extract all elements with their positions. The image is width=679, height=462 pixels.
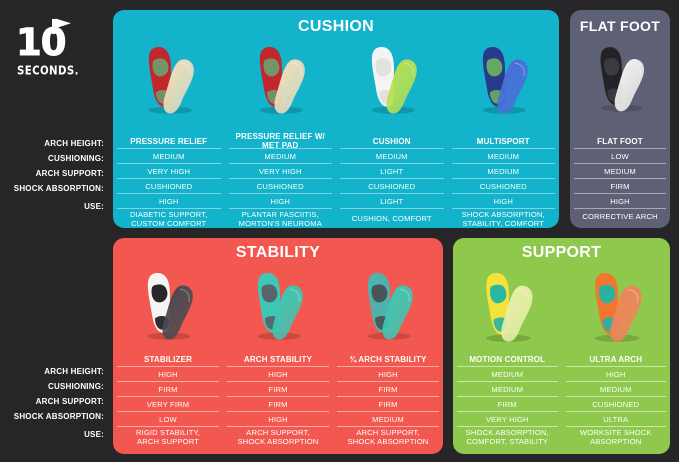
spec-value-shock-absorption: HIGH (113, 194, 225, 208)
spec-row-cushioning: VERY HIGHVERY HIGHLIGHTMEDIUM (113, 164, 559, 178)
product-name-row: FLAT FOOT (570, 134, 670, 148)
spec-value-use: PLANTAR FASCIITIS, MORTON'S NEUROMA (225, 209, 337, 228)
spec-table-stability: STABILIZERARCH STABILITY¾ ARCH STABILITY… (113, 352, 443, 446)
insole-illustration (250, 40, 310, 118)
spec-value-arch-support: CUSHIONED (448, 179, 560, 193)
spec-row-arch-support: CUSHIONEDCUSHIONEDCUSHIONEDCUSHIONED (113, 179, 559, 193)
spec-value-cushioning: VERY HIGH (113, 164, 225, 178)
spec-value-shock-absorption: HIGH (448, 194, 560, 208)
spec-row-arch-height: HIGHHIGHHIGH (113, 367, 443, 381)
spec-value-shock-absorption: MEDIUM (333, 412, 443, 426)
spec-value-use: ARCH SUPPORT, SHOCK ABSORPTION (333, 427, 443, 446)
row-label-4-top: USE: (0, 196, 110, 216)
insole-illustration (138, 266, 198, 344)
spec-row-arch-height: LOW (570, 149, 670, 163)
spec-value-cushioning: MEDIUM (448, 164, 560, 178)
spec-table-cushion: PRESSURE RELIEFPRESSURE RELIEF W/ MET PA… (113, 134, 559, 228)
spec-value-arch-support: FIRM (333, 397, 443, 411)
logo-wordmark: SECONDS. (17, 63, 79, 78)
spec-value-arch-height: HIGH (113, 367, 223, 381)
row-label-0-bottom: ARCH HEIGHT: (0, 364, 110, 379)
panel-title-stability: STABILITY (113, 244, 443, 262)
row-label-3-bottom: SHOCK ABSORPTION: (0, 409, 110, 424)
row-label-2-top: ARCH SUPPORT: (0, 166, 110, 181)
spec-value-use: RIGID STABILITY, ARCH SUPPORT (113, 427, 223, 446)
spec-row-cushioning: MEDIUM (570, 164, 670, 178)
spec-value-cushioning: MEDIUM (453, 382, 562, 396)
spec-value-cushioning: VERY HIGH (225, 164, 337, 178)
spec-row-shock-absorption: HIGHHIGHLIGHTHIGH (113, 194, 559, 208)
spec-value-shock-absorption: VERY HIGH (453, 412, 562, 426)
spec-row-arch-support: VERY FIRMFIRMFIRM (113, 397, 443, 411)
spec-row-shock-absorption: LOWHIGHMEDIUM (113, 412, 443, 426)
spec-row-shock-absorption: VERY HIGHULTRA (453, 412, 670, 426)
product-name: STABILIZER (113, 352, 223, 366)
spec-value-arch-height: MEDIUM (453, 367, 562, 381)
spec-value-arch-height: HIGH (223, 367, 333, 381)
panel-title-cushion: CUSHION (113, 18, 559, 36)
product-image-stability-1 (248, 266, 308, 344)
spec-table-support: MOTION CONTROLULTRA ARCHMEDIUMHIGHMEDIUM… (453, 352, 670, 446)
spec-table-flat-foot: FLAT FOOTLOWMEDIUMFIRMHIGHCORRECTIVE ARC… (570, 134, 670, 223)
spec-row-use: RIGID STABILITY, ARCH SUPPORTARCH SUPPOR… (113, 427, 443, 446)
spec-value-use: ARCH SUPPORT, SHOCK ABSORPTION (223, 427, 333, 446)
spec-value-arch-height: HIGH (333, 367, 443, 381)
spec-row-arch-height: MEDIUMMEDIUMMEDIUMMEDIUM (113, 149, 559, 163)
spec-value-use: SHOCK ABSORPTION, STABILITY, COMFORT (448, 209, 560, 228)
insole-illustration (473, 40, 533, 118)
product-image-cushion-2 (362, 40, 422, 118)
spec-value-cushioning: MEDIUM (562, 382, 671, 396)
row-label-2-bottom: ARCH SUPPORT: (0, 394, 110, 409)
product-name: MOTION CONTROL (453, 352, 562, 366)
spec-row-arch-height: MEDIUMHIGH (453, 367, 670, 381)
insole-illustration (139, 40, 199, 118)
product-image-cushion-1 (250, 40, 310, 118)
spec-row-arch-support: FIRM (570, 179, 670, 193)
spec-value-arch-height: LOW (570, 149, 670, 163)
insole-illustration (248, 266, 308, 344)
spec-value-arch-height: MEDIUM (113, 149, 225, 163)
spec-value-use: WORKSITE SHOCK ABSORPTION (562, 427, 671, 446)
spec-value-arch-support: FIRM (570, 179, 670, 193)
spec-value-arch-support: CUSHIONED (113, 179, 225, 193)
brand-logo: 10 SECONDS. (14, 18, 98, 80)
insole-illustration (476, 266, 538, 346)
spec-value-use: CORRECTIVE ARCH (570, 209, 670, 223)
product-image-stability-0 (138, 266, 198, 344)
product-name: MULTISPORT (448, 134, 560, 148)
spec-value-use: SHOCK ABSORPTION, COMFORT, STABILITY (453, 427, 562, 446)
panel-title-support: SUPPORT (453, 244, 670, 262)
product-name-row: PRESSURE RELIEFPRESSURE RELIEF W/ MET PA… (113, 134, 559, 148)
spec-row-cushioning: FIRMFIRMFIRM (113, 382, 443, 396)
panel-title-flat-foot: FLAT FOOT (570, 18, 670, 34)
row-labels-top: ARCH HEIGHT:CUSHIONING:ARCH SUPPORT:SHOC… (0, 136, 110, 216)
spec-value-use: DIABETIC SUPPORT, CUSTOM COMFORT (113, 209, 225, 228)
spec-value-arch-support: CUSHIONED (225, 179, 337, 193)
spec-value-cushioning: FIRM (333, 382, 443, 396)
product-name: ARCH STABILITY (223, 352, 333, 366)
row-labels-bottom: ARCH HEIGHT:CUSHIONING:ARCH SUPPORT:SHOC… (0, 364, 110, 444)
spec-row-cushioning: MEDIUMMEDIUM (453, 382, 670, 396)
row-label-4-bottom: USE: (0, 424, 110, 444)
spec-row-arch-support: FIRMCUSHIONED (453, 397, 670, 411)
spec-value-arch-support: CUSHIONED (562, 397, 671, 411)
spec-row-use: CORRECTIVE ARCH (570, 209, 670, 223)
product-images-stability (113, 264, 443, 348)
spec-row-use: DIABETIC SUPPORT, CUSTOM COMFORTPLANTAR … (113, 209, 559, 228)
spec-value-arch-support: CUSHIONED (336, 179, 448, 193)
insole-illustration (358, 266, 418, 344)
spec-value-arch-height: MEDIUM (225, 149, 337, 163)
row-label-3-top: SHOCK ABSORPTION: (0, 181, 110, 196)
product-images-flat-foot (570, 38, 670, 120)
product-name: ULTRA ARCH (562, 352, 671, 366)
product-image-cushion-3 (473, 40, 533, 118)
spec-row-use: SHOCK ABSORPTION, COMFORT, STABILITYWORK… (453, 427, 670, 446)
spec-value-cushioning: FIRM (223, 382, 333, 396)
product-name-row: MOTION CONTROLULTRA ARCH (453, 352, 670, 366)
spec-value-arch-support: FIRM (223, 397, 333, 411)
product-images-support (453, 264, 670, 348)
product-name: PRESSURE RELIEF W/ MET PAD (225, 134, 337, 148)
product-image-cushion-0 (139, 40, 199, 118)
spec-value-shock-absorption: HIGH (570, 194, 670, 208)
spec-value-arch-support: FIRM (453, 397, 562, 411)
spec-value-shock-absorption: HIGH (225, 194, 337, 208)
panel-support: SUPPORT MOTION CONTROLULTRA ARCHMEDIUMHI… (453, 238, 670, 454)
product-image-stability-2 (358, 266, 418, 344)
infographic-root: 10 SECONDS. ARCH HEIGHT:CUSHIONING:ARCH … (0, 0, 679, 462)
product-image-flat-foot-0 (591, 40, 649, 116)
panel-stability: STABILITY STABILIZERARCH STABILITY¾ ARCH… (113, 238, 443, 454)
product-name: ¾ ARCH STABILITY (333, 352, 443, 366)
product-image-support-0 (476, 266, 538, 346)
spec-value-arch-support: VERY FIRM (113, 397, 223, 411)
spec-value-shock-absorption: HIGH (223, 412, 333, 426)
product-name-row: STABILIZERARCH STABILITY¾ ARCH STABILITY (113, 352, 443, 366)
spec-value-cushioning: MEDIUM (570, 164, 670, 178)
row-label-0-top: ARCH HEIGHT: (0, 136, 110, 151)
product-name: PRESSURE RELIEF (113, 134, 225, 148)
product-image-support-1 (585, 266, 647, 346)
insole-illustration (362, 40, 422, 118)
panel-cushion: CUSHION PRESSURE RELIEFPRESSURE RELIEF W… (113, 10, 559, 228)
insole-illustration (585, 266, 647, 346)
spec-value-use: CUSHION, COMFORT (336, 209, 448, 228)
logo-mark: 10 (14, 18, 98, 63)
row-label-1-bottom: CUSHIONING: (0, 379, 110, 394)
product-name: FLAT FOOT (570, 134, 670, 148)
spec-row-shock-absorption: HIGH (570, 194, 670, 208)
product-name: CUSHION (336, 134, 448, 148)
pennant-flag-icon (51, 18, 73, 34)
spec-value-arch-height: HIGH (562, 367, 671, 381)
spec-value-shock-absorption: LIGHT (336, 194, 448, 208)
panel-flat-foot: FLAT FOOT FLAT FOOTLOWMEDIUMFIRMHIGHCORR… (570, 10, 670, 228)
product-images-cushion (113, 38, 559, 122)
spec-value-shock-absorption: ULTRA (562, 412, 671, 426)
insole-illustration (591, 40, 649, 116)
spec-value-shock-absorption: LOW (113, 412, 223, 426)
spec-value-cushioning: FIRM (113, 382, 223, 396)
spec-value-cushioning: LIGHT (336, 164, 448, 178)
spec-value-arch-height: MEDIUM (336, 149, 448, 163)
spec-value-arch-height: MEDIUM (448, 149, 560, 163)
row-label-1-top: CUSHIONING: (0, 151, 110, 166)
